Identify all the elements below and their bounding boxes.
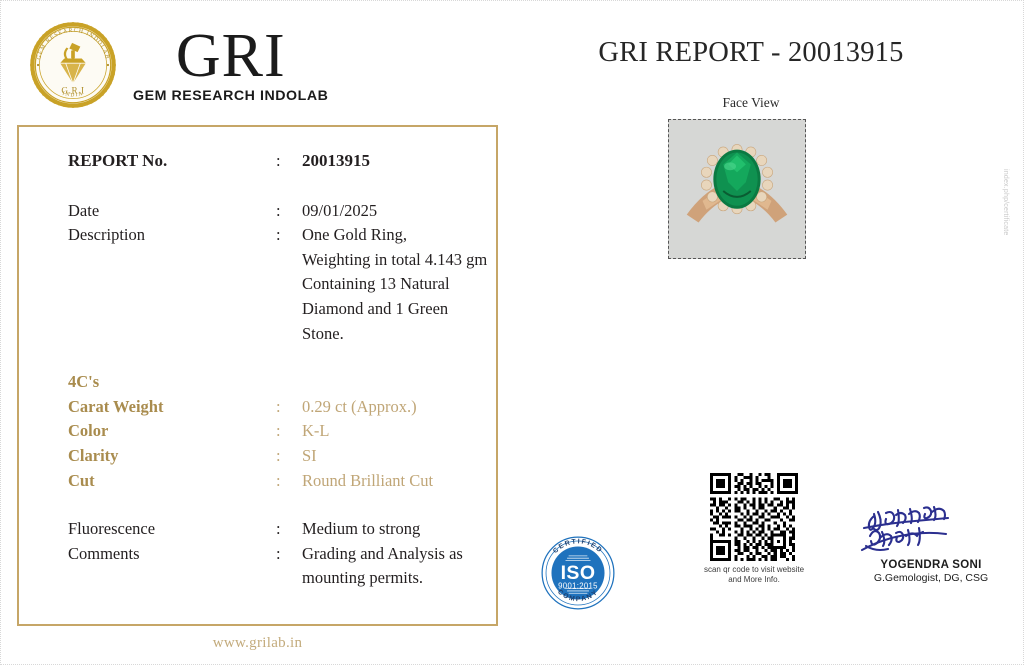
- row-carat-weight: Carat Weight : 0.29 ct (Approx.): [68, 395, 488, 420]
- comments-line-2: mounting permits.: [68, 566, 488, 591]
- gri-seal-logo: GEM RESEARCH INDOLAB INDIA: [27, 19, 119, 111]
- report-no-label: REPORT No.: [68, 149, 276, 174]
- colon: :: [276, 419, 302, 444]
- spacer: [68, 346, 488, 370]
- description-line-1: One Gold Ring,: [302, 223, 488, 248]
- four-cs-title: 4C's: [68, 370, 276, 395]
- row-comments: Comments : Grading and Analysis as: [68, 542, 488, 567]
- row-4cs-title: 4C's: [68, 370, 488, 395]
- cut-label: Cut: [68, 469, 276, 494]
- brand-subtitle: GEM RESEARCH INDOLAB: [133, 88, 328, 104]
- row-date: Date : 09/01/2025: [68, 199, 488, 224]
- side-watermark: index.php/certificate: [995, 169, 1009, 235]
- face-view-label: Face View: [521, 95, 981, 111]
- signatory-name: YOGENDRA SONI: [841, 559, 1021, 571]
- date-label: Date: [68, 199, 276, 224]
- seal-icon: GEM RESEARCH INDOLAB INDIA: [27, 19, 119, 111]
- description-label: Description: [68, 223, 276, 248]
- description-line-3: Containing 13 Natural: [68, 272, 488, 297]
- certificate-page: GEM RESEARCH INDOLAB INDIA: [0, 0, 1024, 665]
- handwritten-signature-icon: [856, 506, 1006, 558]
- date-value: 09/01/2025: [302, 199, 488, 224]
- signatory-role: G.Gemologist, DG, CSG: [841, 572, 1021, 584]
- report-no-value: 20013915: [302, 149, 488, 174]
- row-description: Description : One Gold Ring,: [68, 223, 488, 248]
- svg-text:9001:2015: 9001:2015: [558, 582, 598, 591]
- footer-website[interactable]: www.grilab.in: [1, 635, 514, 652]
- colon: :: [276, 149, 302, 174]
- spacer: [68, 174, 488, 199]
- signature-block: YOGENDRA SONI G.Gemologist, DG, CSG: [841, 506, 1021, 584]
- colon: :: [276, 223, 302, 248]
- clarity-label: Clarity: [68, 444, 276, 469]
- ring-photo: [668, 119, 806, 259]
- colon: :: [276, 517, 302, 542]
- right-column: GRI REPORT - 20013915 Face View: [521, 1, 1024, 666]
- description-line-4: Diamond and 1 Green Stone.: [68, 297, 488, 346]
- svg-text:G.R.I: G.R.I: [61, 86, 84, 96]
- ring-image-icon: [669, 120, 805, 258]
- brand-header: GEM RESEARCH INDOLAB INDIA: [27, 19, 328, 111]
- cut-value: Round Brilliant Cut: [302, 469, 488, 494]
- brand-title: GRI: [176, 28, 286, 85]
- brand-wordmark: GRI GEM RESEARCH INDOLAB: [133, 26, 328, 103]
- color-label: Color: [68, 419, 276, 444]
- color-value: K-L: [302, 419, 488, 444]
- iso-badge-icon: CERTIFIED COMPANY ISO 9001:2015: [539, 534, 617, 612]
- row-clarity: Clarity : SI: [68, 444, 488, 469]
- qr-caption-line-1: scan qr code to visit website: [704, 565, 804, 574]
- colon: :: [276, 542, 302, 567]
- clarity-value: SI: [302, 444, 488, 469]
- fluorescence-value: Medium to strong: [302, 517, 488, 542]
- row-fluorescence: Fluorescence : Medium to strong: [68, 517, 488, 542]
- iso-certified-badge: CERTIFIED COMPANY ISO 9001:2015: [539, 534, 617, 612]
- colon: :: [276, 199, 302, 224]
- carat-weight-label: Carat Weight: [68, 395, 276, 420]
- details-panel: REPORT No. : 20013915 Date : 09/01/2025 …: [17, 125, 498, 626]
- comments-line-1: Grading and Analysis as: [302, 542, 488, 567]
- colon: :: [276, 395, 302, 420]
- comments-label: Comments: [68, 542, 276, 567]
- left-column: GEM RESEARCH INDOLAB INDIA: [1, 1, 521, 666]
- colon: :: [276, 444, 302, 469]
- page-title: GRI REPORT - 20013915: [521, 37, 981, 69]
- description-line-2: Weighting in total 4.143 gm: [68, 248, 488, 273]
- row-color: Color : K-L: [68, 419, 488, 444]
- row-report-no: REPORT No. : 20013915: [68, 149, 488, 174]
- details-rows: REPORT No. : 20013915 Date : 09/01/2025 …: [68, 149, 488, 591]
- carat-weight-value: 0.29 ct (Approx.): [302, 395, 488, 420]
- row-cut: Cut : Round Brilliant Cut: [68, 469, 488, 494]
- qr-section[interactable]: scan qr code to visit website and More I…: [696, 473, 812, 585]
- qr-code-icon[interactable]: [710, 473, 798, 561]
- qr-caption-line-2: and More Info.: [728, 575, 780, 584]
- qr-caption: scan qr code to visit website and More I…: [696, 565, 812, 585]
- colon: :: [276, 469, 302, 494]
- fluorescence-label: Fluorescence: [68, 517, 276, 542]
- spacer: [68, 493, 488, 517]
